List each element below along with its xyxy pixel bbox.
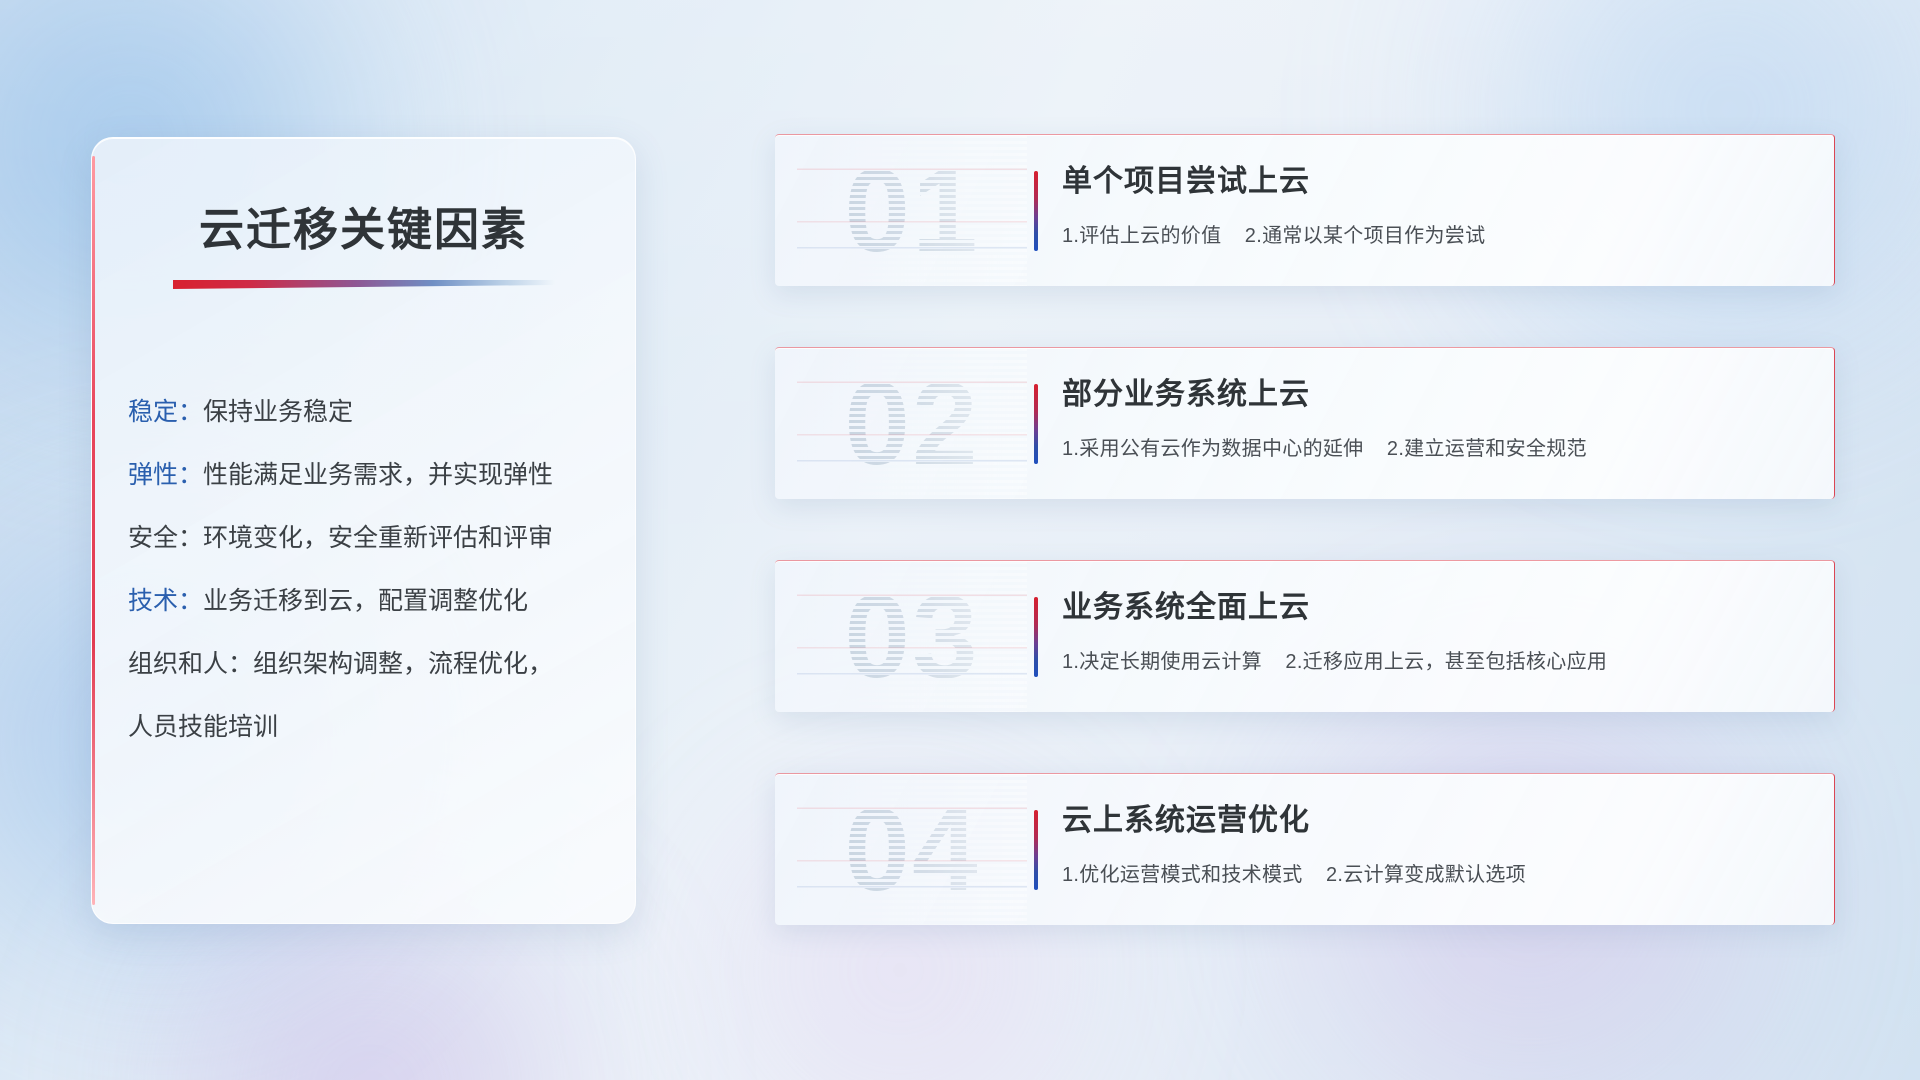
stage-card[interactable]: 01单个项目尝试上云1.评估上云的价值 2.通常以某个项目作为尝试 [775, 134, 1835, 286]
factor-label: 稳定： [128, 398, 203, 426]
factor-text: 业务迁移到云，配置调整优化 [203, 587, 528, 615]
stage-number-ghost: 03 [797, 560, 1027, 712]
stage-title: 云上系统运营优化 [1062, 798, 1808, 844]
accent-divider-bar [1034, 171, 1038, 251]
factor-label: 安全： [128, 524, 203, 552]
stage-text-block: 业务系统全面上云1.决定长期使用云计算 2.迁移应用上云，甚至包括核心应用 [1062, 585, 1808, 674]
stage-title: 业务系统全面上云 [1062, 585, 1808, 631]
stage-description: 1.采用公有云作为数据中心的延伸 2.建立运营和安全规范 [1062, 432, 1808, 461]
accent-divider-bar [1034, 597, 1038, 677]
factor-label: 弹性： [128, 461, 203, 489]
stage-text-block: 部分业务系统上云1.采用公有云作为数据中心的延伸 2.建立运营和安全规范 [1062, 372, 1808, 461]
stage-text-block: 单个项目尝试上云1.评估上云的价值 2.通常以某个项目作为尝试 [1062, 159, 1808, 248]
factor-item: 弹性：性能满足业务需求，并实现弹性 [128, 444, 601, 507]
factor-item: 组织和人：组织架构调整，流程优化， [128, 633, 601, 696]
page-title: 云迁移关键因素 [92, 193, 635, 258]
stage-description: 1.决定长期使用云计算 2.迁移应用上云，甚至包括核心应用 [1062, 645, 1808, 674]
key-factors-list: 稳定：保持业务稳定弹性：性能满足业务需求，并实现弹性安全：环境变化，安全重新评估… [92, 381, 635, 759]
factor-label: 组织和人： [128, 650, 253, 678]
stage-number-ghost: 04 [797, 773, 1027, 925]
factor-item: 稳定：保持业务稳定 [128, 381, 601, 444]
factor-item: 技术：业务迁移到云，配置调整优化 [128, 570, 601, 633]
stage-text-block: 云上系统运营优化1.优化运营模式和技术模式 2.云计算变成默认选项 [1062, 798, 1808, 887]
factor-label: 技术： [128, 587, 203, 615]
factor-text: 人员技能培训 [128, 713, 278, 741]
stage-number-ghost: 02 [797, 347, 1027, 499]
key-factors-panel: 云迁移关键因素 稳定：保持业务稳定弹性：性能满足业务需求，并实现弹性安全：环境变… [91, 137, 636, 924]
stage-description: 1.评估上云的价值 2.通常以某个项目作为尝试 [1062, 219, 1808, 248]
factor-text: 环境变化，安全重新评估和评审 [203, 524, 553, 552]
accent-divider-bar [1034, 384, 1038, 464]
factor-text: 性能满足业务需求，并实现弹性 [203, 461, 553, 489]
factor-text: 保持业务稳定 [203, 398, 353, 426]
stage-card[interactable]: 03业务系统全面上云1.决定长期使用云计算 2.迁移应用上云，甚至包括核心应用 [775, 560, 1835, 712]
title-underline-rule [173, 280, 555, 289]
factor-item: 安全：环境变化，安全重新评估和评审 [128, 507, 601, 570]
stage-card[interactable]: 02部分业务系统上云1.采用公有云作为数据中心的延伸 2.建立运营和安全规范 [775, 347, 1835, 499]
stage-title: 部分业务系统上云 [1062, 372, 1808, 418]
stage-number-ghost: 01 [797, 134, 1027, 286]
accent-divider-bar [1034, 810, 1038, 890]
stage-description: 1.优化运营模式和技术模式 2.云计算变成默认选项 [1062, 858, 1808, 887]
slide-stage: 云迁移关键因素 稳定：保持业务稳定弹性：性能满足业务需求，并实现弹性安全：环境变… [0, 0, 1920, 1080]
stage-title: 单个项目尝试上云 [1062, 159, 1808, 205]
stage-card[interactable]: 04云上系统运营优化1.优化运营模式和技术模式 2.云计算变成默认选项 [775, 773, 1835, 925]
factor-item: 人员技能培训 [128, 696, 601, 759]
migration-stage-cards: 01单个项目尝试上云1.评估上云的价值 2.通常以某个项目作为尝试02部分业务系… [775, 134, 1835, 925]
factor-text: 组织架构调整，流程优化， [253, 650, 553, 678]
